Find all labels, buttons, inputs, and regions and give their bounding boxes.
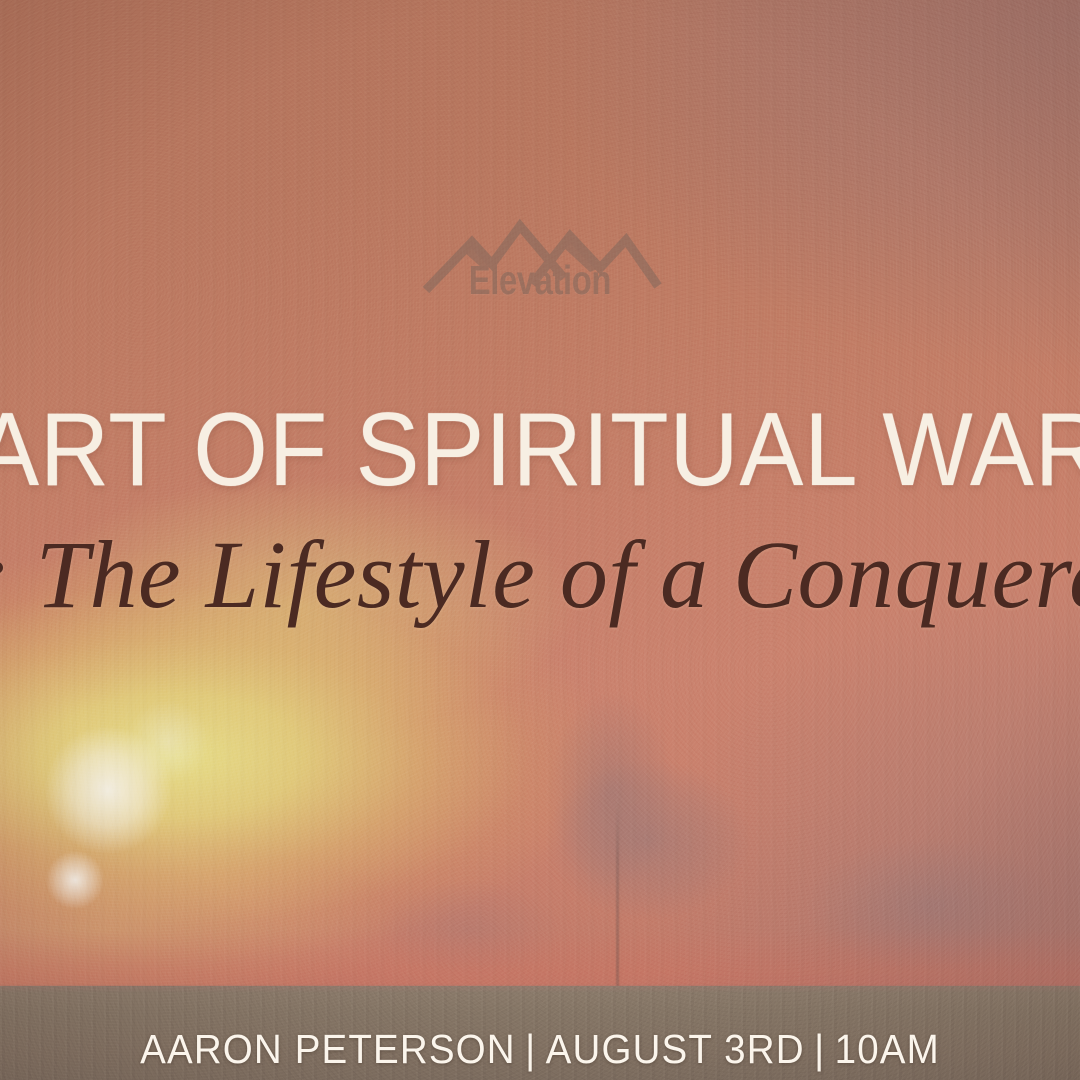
event-time: 10AM [835, 1026, 940, 1072]
footer-separator-2: | [805, 1026, 835, 1072]
footer-separator-1: | [516, 1026, 546, 1072]
sermon-poster: Elevation ART OF SPIRITUAL WAR 2: The Li… [0, 0, 1080, 1080]
event-details: AARON PETERSON|AUGUST 3RD|10AM [32, 1026, 1047, 1073]
page-title: ART OF SPIRITUAL WAR [0, 398, 1080, 502]
logo-wordmark: Elevation [469, 260, 611, 301]
speaker-name: AARON PETERSON [140, 1026, 516, 1072]
event-date: AUGUST 3RD [546, 1026, 805, 1072]
background-fence-post [616, 800, 619, 988]
page-subtitle: 2: The Lifestyle of a Conquerer [0, 518, 1080, 631]
elevation-logo: Elevation [414, 206, 666, 301]
